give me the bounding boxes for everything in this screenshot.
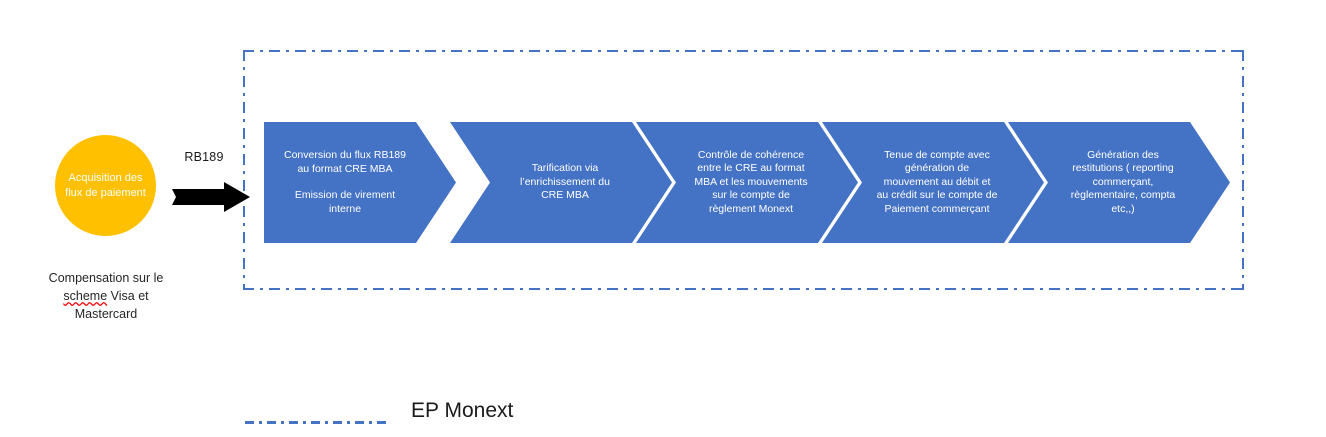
flow-label-rb189: RB189 xyxy=(168,150,240,164)
caption-line-1: Compensation sur le xyxy=(49,271,164,285)
process-step-5-label: Génération des restitutions ( reporting … xyxy=(1067,149,1179,217)
source-node-label: Acquisition des flux de paiement xyxy=(55,171,156,201)
caption-line-3: Mastercard xyxy=(75,307,138,321)
legend-line-swatch xyxy=(245,421,387,424)
legend-title-ep-monext: EP Monext xyxy=(411,398,513,424)
source-node-acquisition[interactable]: Acquisition des flux de paiement xyxy=(55,135,156,236)
diagram-canvas: Acquisition des flux de paiement Compens… xyxy=(0,0,1326,437)
source-node-caption: Compensation sur le scheme Visa et Maste… xyxy=(18,269,194,323)
process-step-1[interactable]: Conversion du flux RB189 au format CRE M… xyxy=(264,122,456,243)
caption-line-2-rest: Visa et xyxy=(107,289,148,303)
right-arrow-icon xyxy=(172,182,250,212)
process-step-4-label: Tenue de compte avec génération de mouve… xyxy=(873,149,1002,217)
process-step-1-label: Conversion du flux RB189 au format CRE M… xyxy=(280,149,410,216)
process-step-2-label: Tarification via l’enrichissement du CRE… xyxy=(516,162,614,203)
process-step-3-label: Contrôle de cohérence entre le CRE au fo… xyxy=(690,149,811,217)
caption-misspelled-word: scheme xyxy=(63,289,107,303)
